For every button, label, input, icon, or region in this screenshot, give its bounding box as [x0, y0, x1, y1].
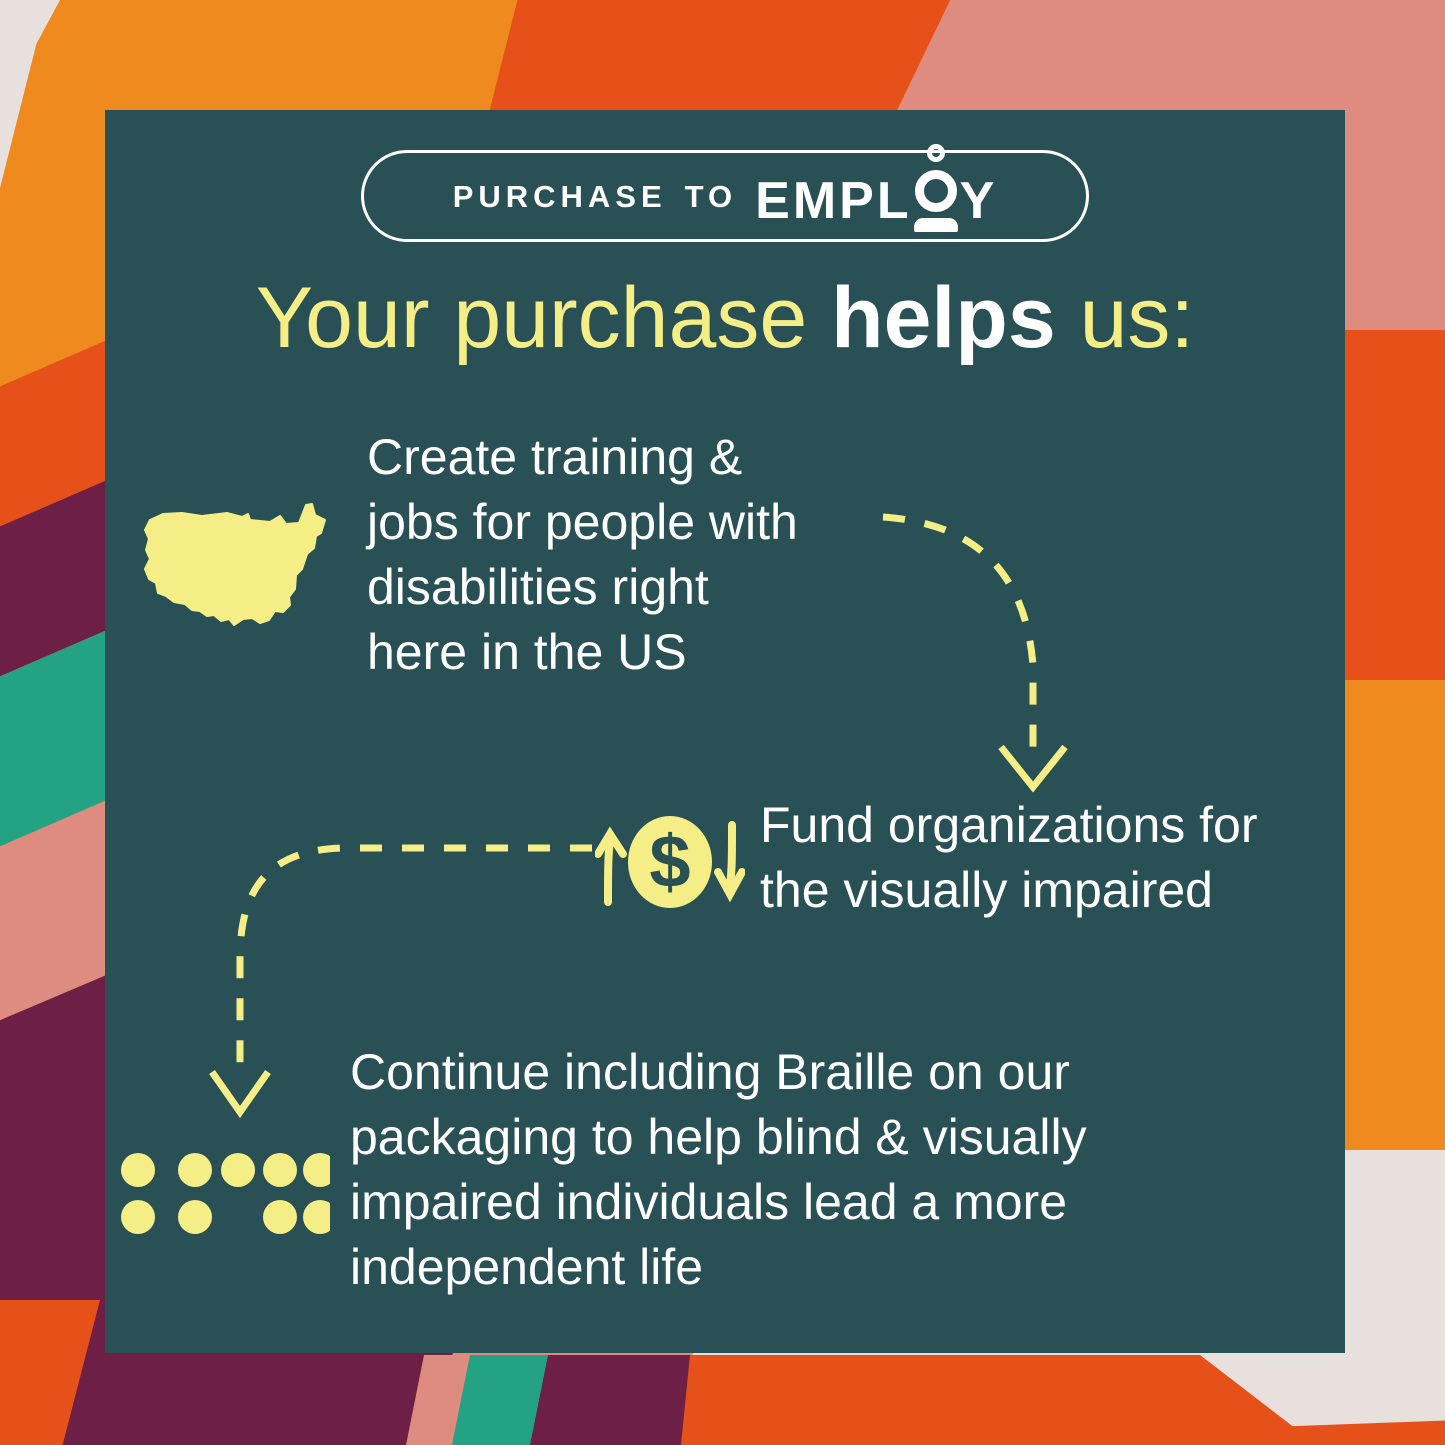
- arrow-up-icon: [598, 834, 623, 902]
- logo-word-purchase: PURCHASE: [453, 181, 667, 212]
- braille-dots-icon: [120, 1145, 330, 1245]
- money-icon: $: [595, 810, 745, 915]
- arrow-down-icon: [718, 825, 742, 894]
- headline-part-2: helps: [831, 270, 1056, 366]
- brand-logo-text: PURCHASE TO EMPL Y: [364, 153, 1086, 239]
- dashed-arrow-down-right: [875, 495, 1115, 815]
- page-title: Your purchase helps us:: [105, 272, 1345, 365]
- headline-part-1: Your purchase: [256, 270, 831, 366]
- person-head-icon: [927, 144, 945, 162]
- logo-word-employ: EMPL Y: [755, 166, 997, 227]
- person-icon: [912, 166, 960, 218]
- benefit-text-1: Create training & jobs for people with d…: [367, 425, 887, 685]
- poster-root: PURCHASE TO EMPL Y Your purchase helps u…: [0, 0, 1445, 1445]
- svg-text:$: $: [649, 820, 690, 903]
- person-base-icon: [914, 218, 958, 232]
- benefit-text-2: Fund organizations for the visually impa…: [760, 793, 1340, 923]
- benefit-text-3: Continue including Braille on our packag…: [350, 1040, 1170, 1300]
- person-body-icon: [915, 170, 957, 212]
- brand-logo: PURCHASE TO EMPL Y: [361, 150, 1089, 242]
- logo-employ-suffix: Y: [960, 175, 998, 227]
- content-card: PURCHASE TO EMPL Y Your purchase helps u…: [105, 110, 1345, 1353]
- us-map-icon: [130, 493, 340, 643]
- stripe-group-right: [1340, 330, 1445, 1400]
- logo-employ-prefix: EMPL: [755, 175, 911, 227]
- headline-part-3: us:: [1056, 270, 1195, 366]
- logo-word-to: TO: [685, 181, 738, 212]
